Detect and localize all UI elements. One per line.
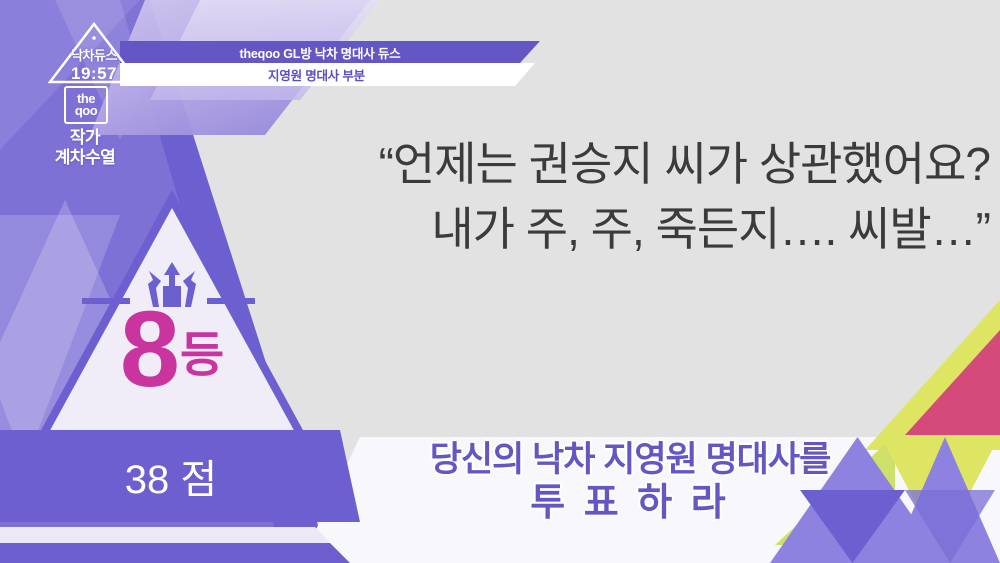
badge-timer: 19:57 — [71, 65, 117, 84]
header-bar-secondary: 지영원 명대사 부분 — [120, 63, 535, 86]
author-name: 계차수열 — [20, 148, 150, 168]
author-block: 작가 계차수열 — [20, 128, 150, 168]
rank-number: 8 — [120, 305, 176, 394]
quote-line-1: “언제는 권승지 씨가 상관했어요? — [170, 132, 990, 197]
vote-call-to-action: 당신의 낙차 지영원 명대사를 투 표 하 라 — [340, 440, 920, 525]
bottom-purple-band — [0, 543, 350, 563]
rank-suffix: 등 — [180, 332, 224, 380]
badge-title: 낙차듀스 — [71, 49, 117, 62]
right-pink-triangle — [905, 330, 1000, 435]
slide-canvas: 낙차듀스 19:57 theqoo GL방 낙차 명대사 듀스 지영원 명대사 … — [0, 0, 1000, 563]
score-value: 38 점 — [125, 447, 217, 505]
theqoo-logo: the qoo — [64, 86, 108, 124]
cta-line-1: 당신의 낙차 지영원 명대사를 — [340, 440, 920, 481]
rank-pyramid: 8 등 — [22, 190, 322, 465]
theqoo-logo-line2: qoo — [75, 105, 97, 117]
bottom-light-strip — [0, 527, 330, 543]
header-bar-primary: theqoo GL방 낙차 명대사 듀스 — [120, 41, 540, 63]
score-band: 38 점 — [0, 430, 360, 522]
rank-value: 8 등 — [22, 305, 322, 394]
crown-rule-right — [207, 298, 255, 304]
author-role: 작가 — [20, 128, 150, 148]
show-timer-badge: 낙차듀스 19:57 — [48, 22, 140, 84]
cta-line-2: 투 표 하 라 — [340, 481, 920, 526]
